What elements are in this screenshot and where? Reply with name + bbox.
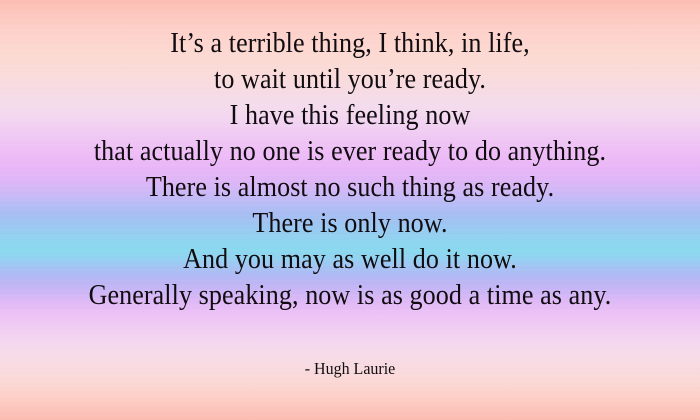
quote-line: There is only now.	[25, 206, 676, 242]
quote-line: And you may as well do it now.	[25, 242, 676, 278]
quote-content: It’s a terrible thing, I think, in life,…	[0, 0, 700, 420]
quote-text-block: It’s a terrible thing, I think, in life,…	[0, 26, 700, 314]
quote-line: It’s a terrible thing, I think, in life,	[25, 26, 676, 62]
quote-line: Generally speaking, now is as good a tim…	[25, 278, 676, 314]
quote-line: There is almost no such thing as ready.	[25, 170, 676, 206]
quote-line: to wait until you’re ready.	[25, 62, 676, 98]
quote-line: I have this feeling now	[25, 98, 676, 134]
quote-line: that actually no one is ever ready to do…	[25, 134, 676, 170]
quote-card: It’s a terrible thing, I think, in life,…	[0, 0, 700, 420]
quote-attribution: - Hugh Laurie	[21, 358, 679, 380]
